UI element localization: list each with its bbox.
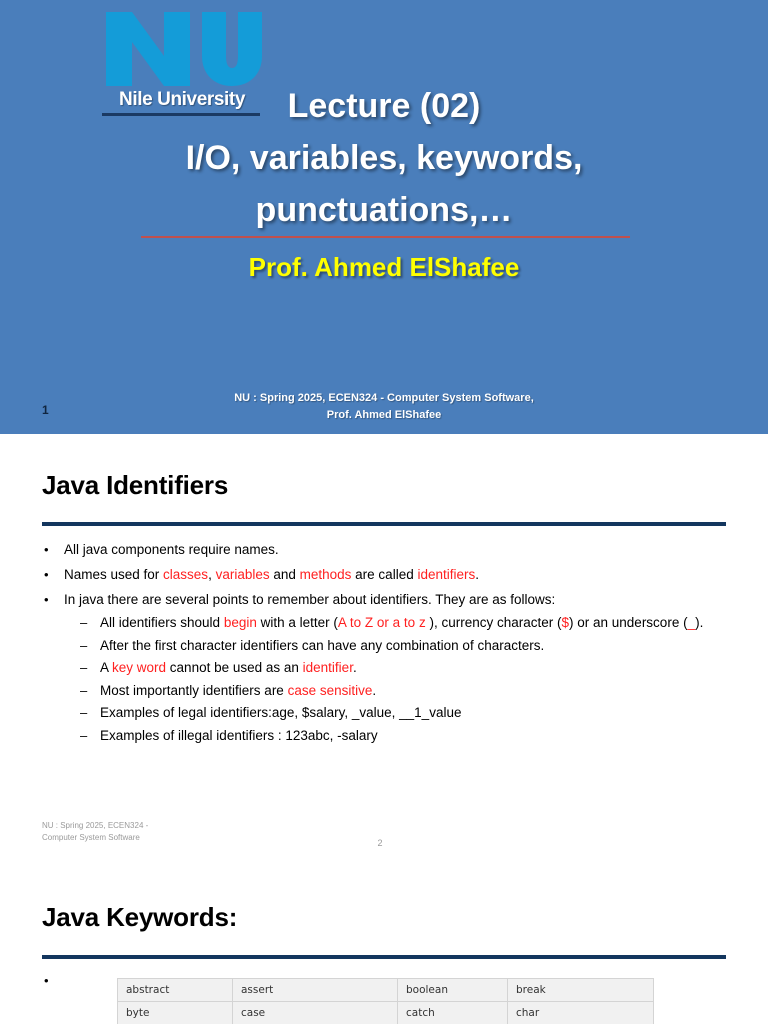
title-line-3: punctuations,…	[54, 184, 714, 236]
keyword-cell: byte	[118, 1002, 233, 1024]
title-separator-rule	[141, 236, 630, 238]
keyword-cell: break	[508, 979, 654, 1002]
slide-3-heading-rule	[42, 955, 726, 959]
bullet-text: A key word cannot be used as an identifi…	[100, 660, 357, 675]
plain-text: are called	[351, 567, 417, 582]
slide-3-heading: Java Keywords:	[42, 902, 237, 933]
plain-text: All identifiers should	[100, 615, 224, 630]
bullet-item: •All java components require names.	[42, 537, 742, 562]
slide-1-page-number: 1	[42, 403, 49, 417]
plain-text: Examples of legal identifiers:age, $sala…	[100, 705, 461, 720]
dash-marker-icon: –	[80, 612, 87, 635]
bullet-text: Names used for classes, variables and me…	[64, 567, 479, 582]
bullet-text: Examples of illegal identifiers : 123abc…	[100, 728, 378, 743]
bullet-marker-icon: •	[44, 537, 49, 562]
plain-text: .	[372, 683, 376, 698]
plain-text: After the first character identifiers ca…	[100, 638, 544, 653]
highlighted-term: identifier	[303, 660, 353, 675]
sub-bullet-item: –After the first character identifiers c…	[42, 635, 742, 658]
highlighted-term: $	[562, 615, 570, 630]
lecture-title: Lecture (02) I/O, variables, keywords, p…	[54, 80, 714, 236]
dash-marker-icon: –	[80, 725, 87, 748]
plain-text: Names used for	[64, 567, 163, 582]
keyword-cell: assert	[233, 979, 398, 1002]
nu-monogram-icon	[98, 8, 266, 90]
java-keywords-table: abstractassertbooleanbreakbytecasecatchc…	[117, 978, 654, 1024]
plain-text: ), currency character (	[426, 615, 562, 630]
plain-text: cannot be used as an	[166, 660, 303, 675]
keyword-cell: case	[233, 1002, 398, 1024]
bullet-text: Examples of legal identifiers:age, $sala…	[100, 705, 461, 720]
slide-2-bullet-list: •All java components require names.•Name…	[42, 537, 742, 747]
bullet-item: •Names used for classes, variables and m…	[42, 562, 742, 587]
bullet-marker-icon: •	[44, 587, 49, 612]
plain-text: In java there are several points to reme…	[64, 592, 555, 607]
slide-2-heading: Java Identifiers	[42, 470, 228, 501]
dash-marker-icon: –	[80, 635, 87, 658]
plain-text: .	[475, 567, 479, 582]
title-line-1: Lecture (02)	[54, 80, 714, 132]
sub-bullet-item: –All identifiers should begin with a let…	[42, 612, 742, 635]
keyword-cell: boolean	[398, 979, 508, 1002]
bullet-text: All java components require names.	[64, 542, 279, 557]
dash-marker-icon: –	[80, 702, 87, 725]
highlighted-term: key word	[112, 660, 166, 675]
bullet-text: Most importantly identifiers are case se…	[100, 683, 376, 698]
highlighted-term: begin	[224, 615, 257, 630]
footer-course-line: NU : Spring 2025, ECEN324 - Computer Sys…	[120, 390, 648, 407]
plain-text: and	[270, 567, 300, 582]
keyword-cell: catch	[398, 1002, 508, 1024]
plain-text: Examples of illegal identifiers : 123abc…	[100, 728, 378, 743]
sub-bullet-item: –Most importantly identifiers are case s…	[42, 680, 742, 703]
table-row: bytecasecatchchar	[118, 1002, 654, 1024]
plain-text: All java components require names.	[64, 542, 279, 557]
bullet-text: All identifiers should begin with a lett…	[100, 615, 703, 630]
highlighted-term: identifiers	[417, 567, 475, 582]
slide-2-footnote: NU : Spring 2025, ECEN324 - Computer Sys…	[42, 820, 152, 844]
slide-1-title: Nile University Lecture (02) I/O, variab…	[0, 0, 768, 434]
plain-text: ,	[208, 567, 216, 582]
footer-author-line: Prof. Ahmed ElShafee	[120, 407, 648, 424]
dash-marker-icon: –	[80, 680, 87, 703]
slide-3-bullet-marker: •	[44, 968, 49, 993]
highlighted-term: _	[688, 615, 696, 630]
title-line-2: I/O, variables, keywords,	[54, 132, 714, 184]
keyword-cell: char	[508, 1002, 654, 1024]
bullet-text: In java there are several points to reme…	[64, 592, 555, 607]
plain-text: ).	[695, 615, 703, 630]
presenter-name: Prof. Ahmed ElShafee	[54, 252, 714, 283]
slide-1-footer: NU : Spring 2025, ECEN324 - Computer Sys…	[120, 390, 648, 424]
bullet-text: After the first character identifiers ca…	[100, 638, 544, 653]
plain-text: A	[100, 660, 112, 675]
dash-marker-icon: –	[80, 657, 87, 680]
sub-bullet-item: –A key word cannot be used as an identif…	[42, 657, 742, 680]
highlighted-term: case sensitive	[288, 683, 373, 698]
slide-2-page-number: 2	[340, 838, 420, 848]
highlighted-term: classes	[163, 567, 208, 582]
highlighted-term: methods	[300, 567, 352, 582]
sub-bullet-item: –Examples of illegal identifiers : 123ab…	[42, 725, 742, 748]
bullet-item: •In java there are several points to rem…	[42, 587, 742, 612]
table-row: abstractassertbooleanbreak	[118, 979, 654, 1002]
sub-bullet-item: –Examples of legal identifiers:age, $sal…	[42, 702, 742, 725]
bullet-marker-icon: •	[44, 562, 49, 587]
plain-text: with a letter (	[257, 615, 338, 630]
plain-text: Most importantly identifiers are	[100, 683, 288, 698]
slide-deck-page: Nile University Lecture (02) I/O, variab…	[0, 0, 768, 1024]
highlighted-term: variables	[216, 567, 270, 582]
plain-text: ) or an underscore (	[569, 615, 688, 630]
highlighted-term: A to Z or a to z	[338, 615, 426, 630]
plain-text: .	[353, 660, 357, 675]
slide-2-java-identifiers: Java Identifiers •All java components re…	[0, 434, 768, 880]
keyword-cell: abstract	[118, 979, 233, 1002]
slide-2-heading-rule	[42, 522, 726, 526]
